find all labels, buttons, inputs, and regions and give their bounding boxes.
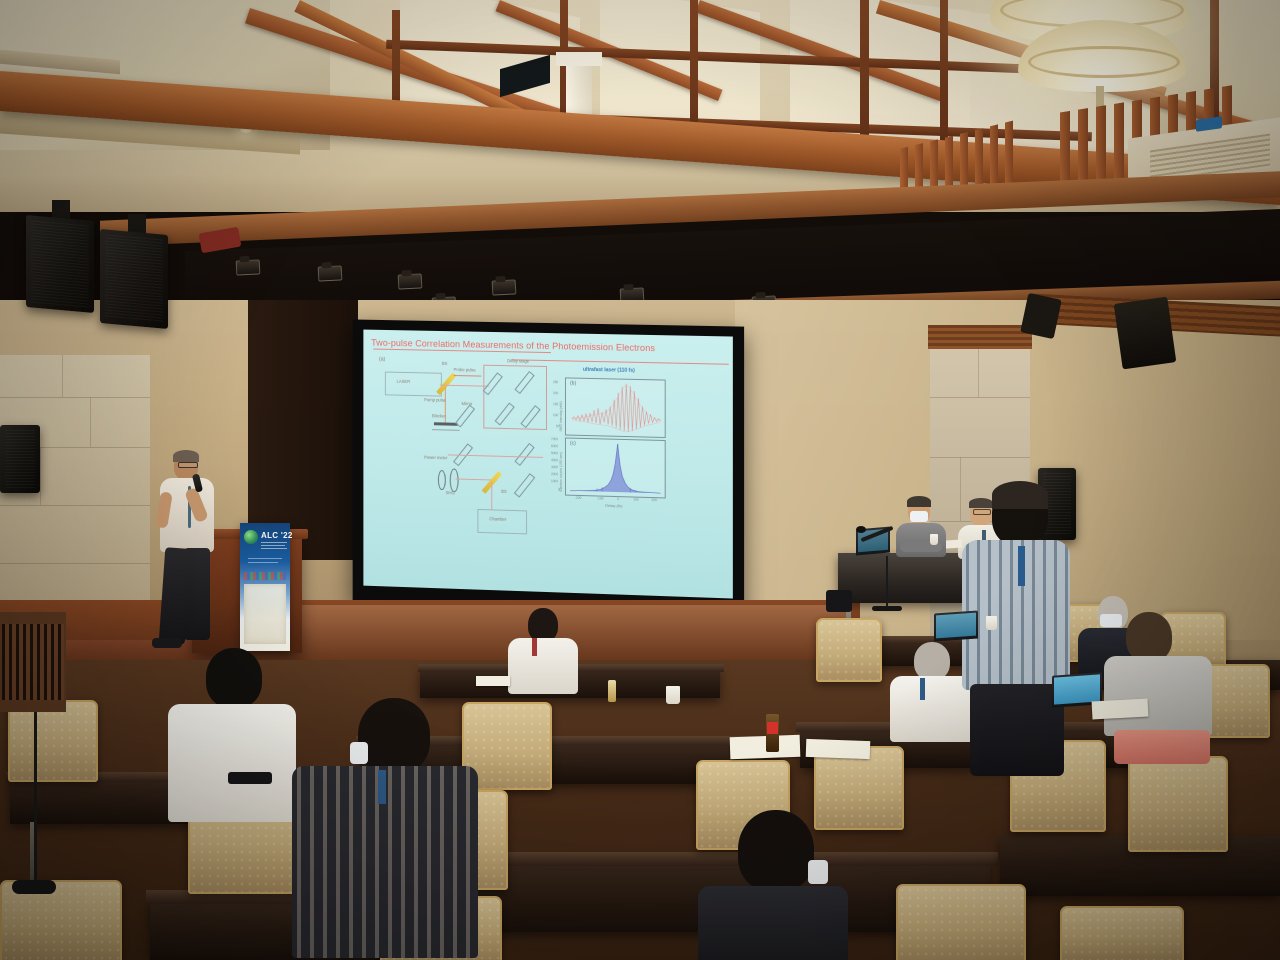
panel-b-plot: (b) xyxy=(565,377,666,438)
panel-b-ytick: 200 xyxy=(553,391,558,395)
lanyard xyxy=(920,678,925,700)
delay-stage-label: Delay stage xyxy=(507,358,529,363)
banner-title: ALC '22 xyxy=(261,531,293,540)
truss-post xyxy=(940,0,948,155)
mic-stand-base xyxy=(872,606,902,611)
chamber-label: Chamber xyxy=(489,516,506,522)
panel-c-ytick: 4000 xyxy=(551,458,558,462)
laptop[interactable] xyxy=(934,610,978,641)
panel-c-ytick: 2000 xyxy=(551,472,558,476)
laser-box xyxy=(385,372,442,397)
side-curtain xyxy=(248,300,358,560)
laser-label: LASER xyxy=(397,379,410,384)
lens xyxy=(450,468,459,492)
hair xyxy=(907,496,931,507)
panel-c-ytick: 5000 xyxy=(551,451,558,455)
panel-c-ylabel: Electron counts (1/30 sec) xyxy=(559,452,563,492)
panel-c-xtick: 200 xyxy=(652,498,657,502)
striped-shirt xyxy=(962,540,1070,690)
attendee-seated xyxy=(690,810,850,960)
microphone-head xyxy=(856,526,866,533)
panel-c-xtick: 100 xyxy=(633,498,638,502)
projection-screen[interactable]: Two-pulse Correlation Measurements of th… xyxy=(353,319,744,615)
panel-b-ytick: 250 xyxy=(553,380,558,384)
mic-stand-pole xyxy=(34,700,37,890)
mirror xyxy=(455,405,475,428)
cup xyxy=(986,616,997,630)
pa-speaker xyxy=(100,229,168,329)
conference-logo-icon xyxy=(244,530,258,544)
glasses-icon xyxy=(178,462,198,468)
attendee-seated xyxy=(292,698,478,958)
papers xyxy=(730,735,801,759)
shg-label: SHG xyxy=(446,490,455,495)
panel-c-plot: (c) xyxy=(565,437,666,498)
trousers xyxy=(970,684,1064,776)
panel-c-xtick: -200 xyxy=(575,496,581,500)
presenter xyxy=(150,452,230,652)
panel-c-ytick: 6000 xyxy=(551,444,558,448)
power-meter-label: Power meter xyxy=(424,455,447,461)
blocker-label: Blocker xyxy=(432,413,446,418)
ceiling-column-cap xyxy=(556,52,602,66)
mic-stand-pole xyxy=(886,556,888,610)
presenter-hair xyxy=(173,450,199,462)
pendant-light-rim xyxy=(1028,46,1180,78)
panel-c-ytick: 1000 xyxy=(551,479,558,483)
panel-c-ytick: 3000 xyxy=(551,465,558,469)
panel-a-label: (a) xyxy=(379,357,385,363)
attendee-seated xyxy=(506,608,580,688)
panel-c-xtick: -100 xyxy=(597,496,603,500)
wood-panel-slats xyxy=(2,624,64,700)
pa-speaker-right-upper xyxy=(1114,297,1177,370)
presentation-slide: Two-pulse Correlation Measurements of th… xyxy=(363,330,732,599)
panel-c-trace xyxy=(566,439,665,498)
papers xyxy=(1092,699,1149,720)
standing-attendee xyxy=(962,484,1070,774)
stage-spotlight xyxy=(492,279,517,295)
panel-c-ytick: 7000 xyxy=(551,437,558,441)
papers xyxy=(806,739,871,759)
panel-c-xlabel: Delay (fs) xyxy=(605,503,622,509)
panel-b-ytick: 50 xyxy=(556,424,560,428)
papers xyxy=(946,539,962,548)
lanyard xyxy=(1018,546,1025,586)
panel-b-ytick: 100 xyxy=(553,413,558,417)
bottle xyxy=(608,680,616,702)
column-capital-slats xyxy=(928,325,1032,349)
panel-c-xtick: 0 xyxy=(617,497,619,501)
hair xyxy=(992,481,1048,509)
stage-spotlight xyxy=(398,273,423,289)
session-chair-masked xyxy=(894,498,948,558)
shorts xyxy=(1114,730,1210,764)
plots-heading: ultrafast laser (110 fs) xyxy=(583,367,635,374)
truss-post xyxy=(860,0,869,150)
pump-pulse-label: Pump pulse xyxy=(424,397,446,402)
stage-spotlight xyxy=(318,265,343,281)
personal-item xyxy=(228,772,272,784)
pa-speaker xyxy=(26,215,94,313)
mic-stand-base xyxy=(12,880,56,894)
panel-b-trace xyxy=(566,378,665,437)
banner-program-text xyxy=(244,584,286,644)
lanyard xyxy=(378,770,386,804)
cup xyxy=(930,534,938,545)
equipment-bag xyxy=(826,590,852,612)
attendee-seated xyxy=(1104,612,1214,752)
delay-stage-box xyxy=(483,365,547,430)
cola-bottle xyxy=(766,714,779,752)
cup xyxy=(666,686,680,704)
probe-pulse-label: Probe pulse xyxy=(454,367,476,372)
face-mask xyxy=(910,511,928,522)
mirror xyxy=(514,443,534,466)
pa-speaker-floor xyxy=(0,425,40,493)
power-meter xyxy=(438,470,446,490)
screen-surface: Two-pulse Correlation Measurements of th… xyxy=(363,330,732,599)
panel-b-ytick: 150 xyxy=(553,402,558,406)
conference-hall-photo: Two-pulse Correlation Measurements of th… xyxy=(0,0,1280,960)
bs-label-2: BS xyxy=(501,489,507,494)
presenter-shoe xyxy=(152,638,182,648)
mirror xyxy=(514,473,535,497)
lanyard xyxy=(532,638,537,656)
presenter-leg xyxy=(184,548,210,640)
panel-c-ytick: 0 xyxy=(558,487,560,491)
bs-label-1: BS xyxy=(442,361,448,366)
stage-spotlight xyxy=(236,259,261,275)
bottle-label xyxy=(767,722,778,734)
papers xyxy=(476,676,510,686)
attendee-seated xyxy=(162,648,298,818)
banner-sponsor-logos xyxy=(244,572,286,580)
